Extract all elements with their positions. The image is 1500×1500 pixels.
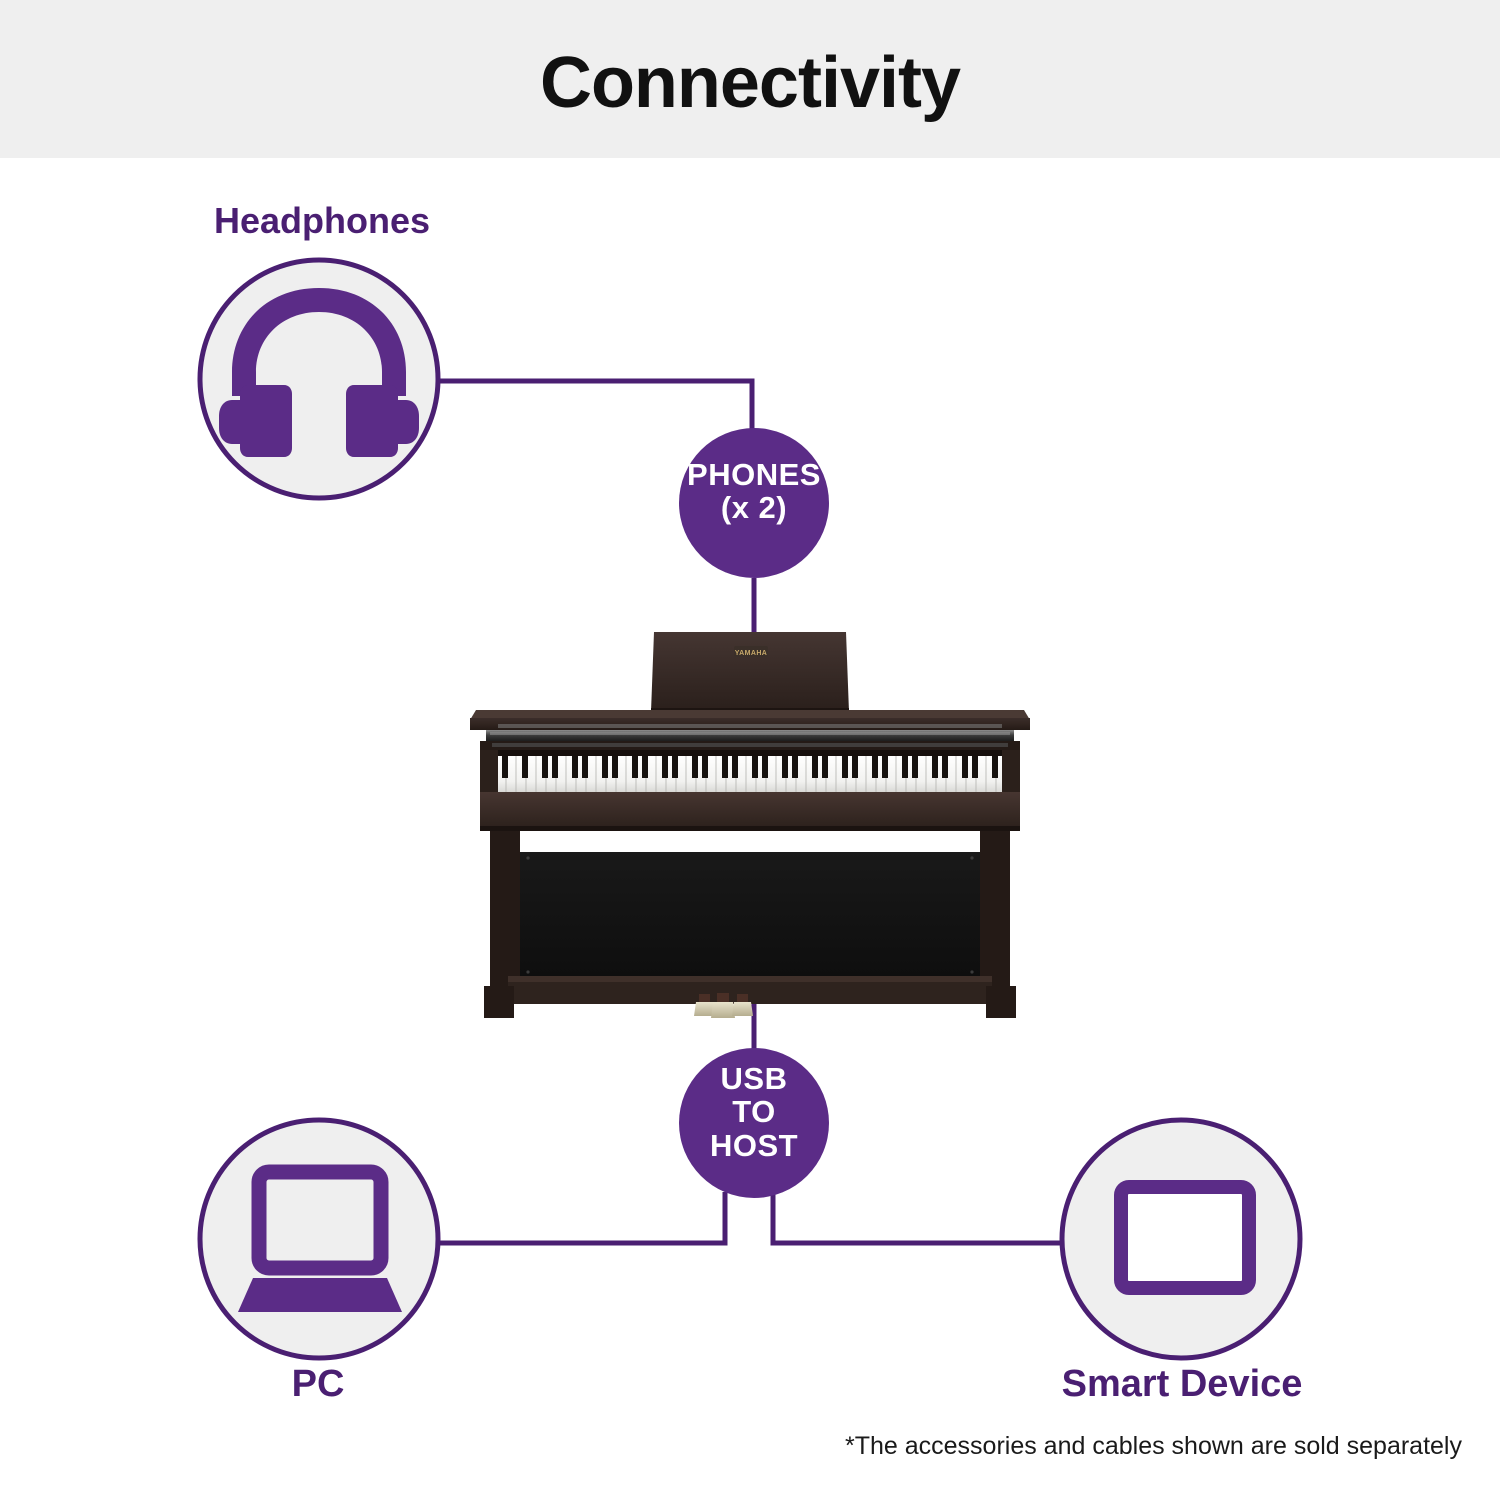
piano-pedal-board xyxy=(484,976,1016,1018)
node-smart-device[interactable] xyxy=(1062,1120,1300,1358)
badge-phones[interactable] xyxy=(679,428,829,578)
tablet-icon xyxy=(1121,1187,1249,1288)
piano-legs xyxy=(490,831,1010,986)
digital-piano-image: YAMAHA xyxy=(468,624,1032,1030)
node-pc[interactable] xyxy=(200,1120,438,1358)
piano-body xyxy=(480,792,1020,831)
piano-music-rest: YAMAHA xyxy=(651,632,849,713)
pc-label: PC xyxy=(168,1363,468,1406)
connector-usb-to-pc xyxy=(430,1192,725,1243)
usb-badge-circle xyxy=(679,1048,829,1198)
piano-pedals xyxy=(694,993,753,1018)
pc-circle xyxy=(200,1120,438,1358)
piano-top-lid xyxy=(470,710,1030,730)
footnote-text: *The accessories and cables shown are so… xyxy=(0,1432,1462,1461)
connector-headphones-to-phones xyxy=(438,381,752,432)
piano-keyboard xyxy=(480,750,1020,796)
yamaha-logo: YAMAHA xyxy=(735,650,767,657)
node-headphones[interactable] xyxy=(200,260,438,498)
piano-control-rail xyxy=(480,730,1020,750)
connector-usb-to-smart-device xyxy=(773,1192,1060,1243)
smart-device-label: Smart Device xyxy=(1032,1363,1332,1406)
phones-badge-circle xyxy=(679,428,829,578)
connectivity-diagram: Connectivity xyxy=(0,0,1500,1500)
badge-usb-to-host[interactable] xyxy=(679,1048,829,1198)
headphones-label: Headphones xyxy=(0,200,644,242)
